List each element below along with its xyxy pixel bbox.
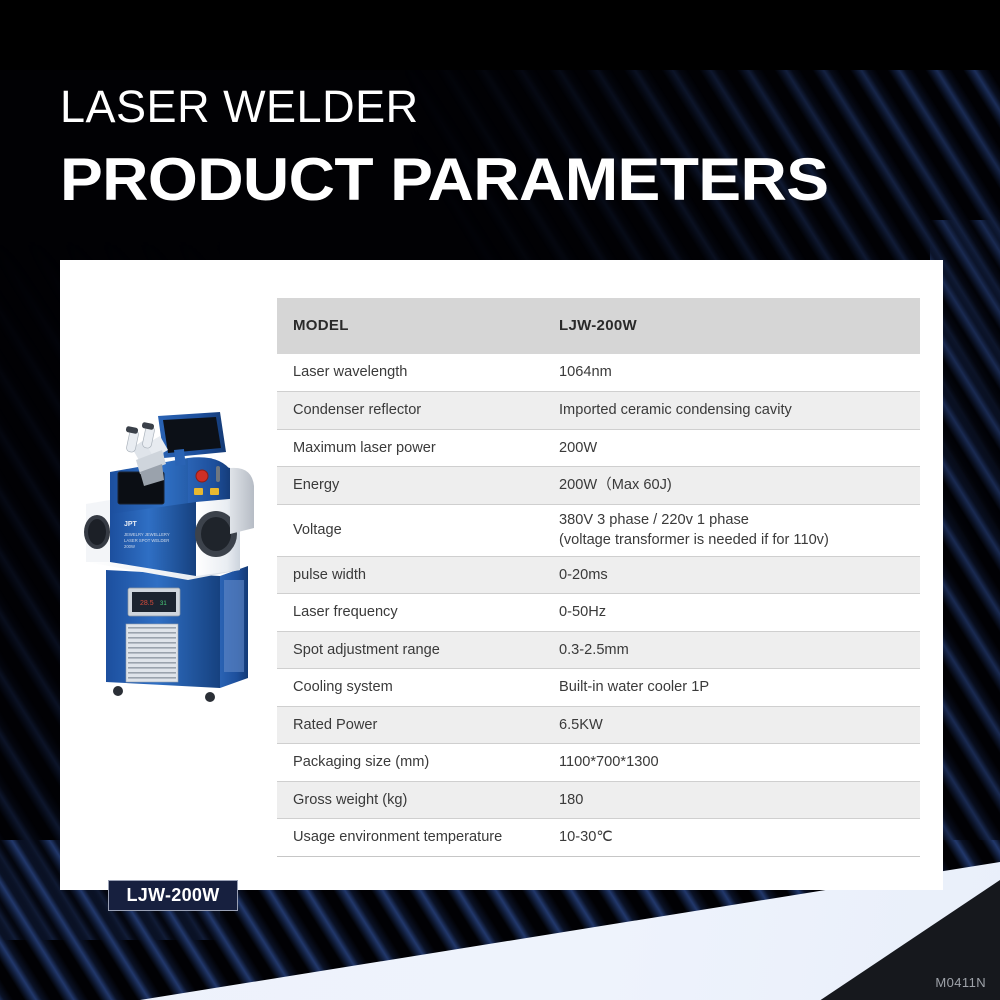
svg-text:31: 31	[160, 601, 167, 607]
spec-value: 0.3-2.5mm	[545, 631, 920, 669]
table-row: pulse width 0-20ms	[277, 556, 920, 594]
page-title: PRODUCT PARAMETERS	[60, 150, 828, 210]
table-row: Gross weight (kg) 180	[277, 781, 920, 819]
laser-welder-machine-image: 28.5 31 JPT	[70, 410, 270, 710]
svg-text:200W: 200W	[124, 544, 135, 549]
spec-value: 1100*700*1300	[545, 744, 920, 782]
table-row: Packaging size (mm) 1100*700*1300	[277, 744, 920, 782]
spec-value-line1: 380V 3 phase / 220v 1 phase	[559, 510, 920, 530]
header-cell-model-value: LJW-200W	[545, 298, 920, 354]
product-parameters-page: M0411N LASER WELDER PRODUCT PARAMETERS	[0, 0, 1000, 1000]
heading-block: LASER WELDER PRODUCT PARAMETERS	[60, 84, 778, 210]
spec-key: Energy	[277, 467, 545, 505]
table-header-row: MODEL LJW-200W	[277, 298, 920, 354]
watermark-code: M0411N	[935, 975, 986, 990]
table-row: Voltage 380V 3 phase / 220v 1 phase (vol…	[277, 504, 920, 556]
table-row: Energy 200W（Max 60J)	[277, 467, 920, 505]
spec-key: Packaging size (mm)	[277, 744, 545, 782]
spec-value: Imported ceramic condensing cavity	[545, 392, 920, 430]
spec-value: 380V 3 phase / 220v 1 phase (voltage tra…	[545, 504, 920, 556]
spec-value: 1064nm	[545, 354, 920, 392]
content-panel: 28.5 31 JPT	[60, 260, 943, 890]
spec-key: Usage environment temperature	[277, 819, 545, 857]
spec-key: pulse width	[277, 556, 545, 594]
spec-value: 200W	[545, 429, 920, 467]
spec-key: Laser wavelength	[277, 354, 545, 392]
table-row: Laser wavelength 1064nm	[277, 354, 920, 392]
svg-text:28.5: 28.5	[140, 600, 154, 607]
header-cell-model: MODEL	[277, 298, 545, 354]
spec-value: Built-in water cooler 1P	[545, 669, 920, 707]
table-row: Maximum laser power 200W	[277, 429, 920, 467]
spec-key: Spot adjustment range	[277, 631, 545, 669]
svg-text:LASER SPOT WELDER: LASER SPOT WELDER	[124, 538, 169, 543]
spec-key: Voltage	[277, 504, 545, 556]
spec-value: 6.5KW	[545, 706, 920, 744]
spec-key: Gross weight (kg)	[277, 781, 545, 819]
spec-value: 0-20ms	[545, 556, 920, 594]
table-row: Condenser reflector Imported ceramic con…	[277, 392, 920, 430]
spec-value-line2: (voltage transformer is needed if for 11…	[559, 530, 920, 550]
spec-key: Maximum laser power	[277, 429, 545, 467]
svg-text:JEWELRY JEWELLERY: JEWELRY JEWELLERY	[124, 532, 170, 537]
spec-value: 180	[545, 781, 920, 819]
spec-key: Rated Power	[277, 706, 545, 744]
spec-value: 200W（Max 60J)	[545, 467, 920, 505]
table-row: Usage environment temperature 10-30℃	[277, 819, 920, 857]
table-row: Spot adjustment range 0.3-2.5mm	[277, 631, 920, 669]
table-row: Laser frequency 0-50Hz	[277, 594, 920, 632]
spec-value: 0-50Hz	[545, 594, 920, 632]
top-black-band	[0, 0, 1000, 70]
product-image-area: 28.5 31 JPT	[70, 410, 270, 730]
spec-key: Cooling system	[277, 669, 545, 707]
spec-key: Laser frequency	[277, 594, 545, 632]
table-row: Cooling system Built-in water cooler 1P	[277, 669, 920, 707]
svg-text:JPT: JPT	[124, 521, 138, 528]
model-badge: LJW-200W	[108, 880, 238, 911]
specification-table: MODEL LJW-200W Laser wavelength 1064nm C…	[277, 298, 920, 857]
spec-key: Condenser reflector	[277, 392, 545, 430]
spec-value: 10-30℃	[545, 819, 920, 857]
table-row: Rated Power 6.5KW	[277, 706, 920, 744]
page-subtitle: LASER WELDER	[60, 84, 778, 129]
